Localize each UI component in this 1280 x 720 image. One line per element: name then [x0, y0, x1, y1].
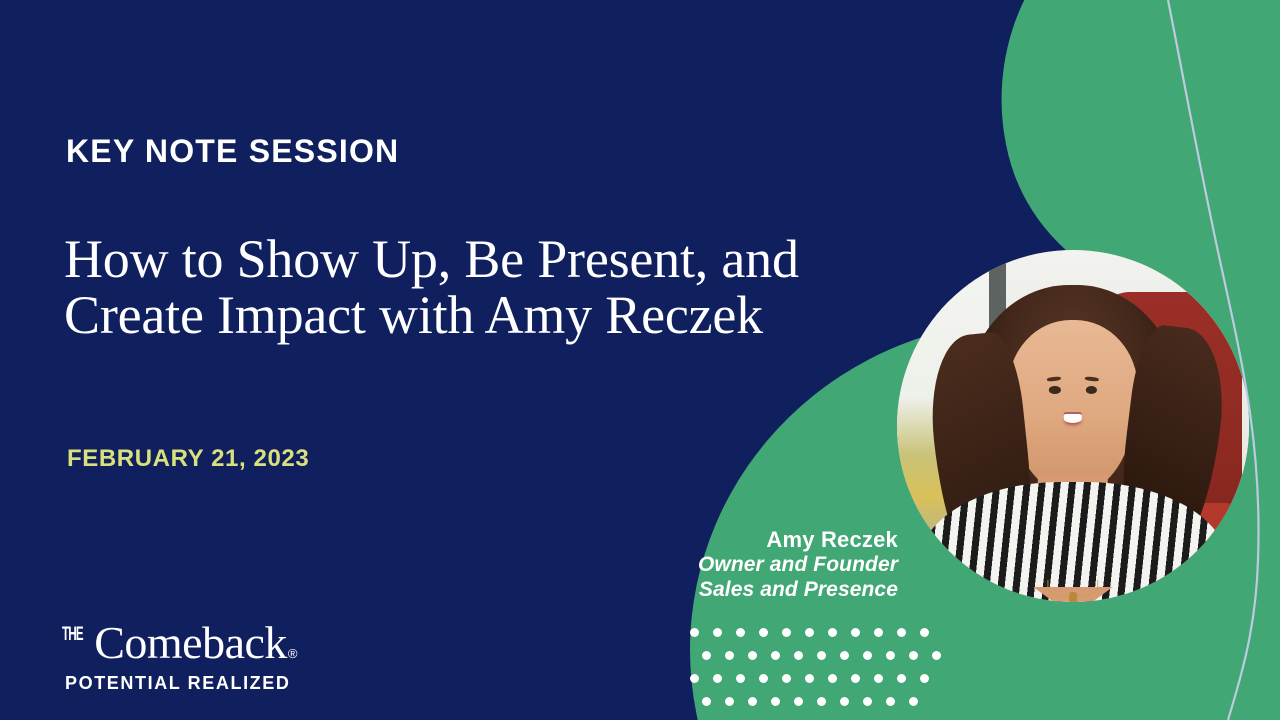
speaker-credit: Amy Reczek Owner and Founder Sales and P…	[698, 527, 898, 602]
registered-trademark-icon: ®	[288, 647, 298, 660]
presentation-slide: KEY NOTE SESSION How to Show Up, Be Pres…	[0, 0, 1280, 720]
avatar-pendant	[1069, 592, 1077, 602]
speaker-name: Amy Reczek	[698, 527, 898, 552]
avatar-eye-left	[1049, 386, 1061, 394]
session-date: FEBRUARY 21, 2023	[67, 445, 309, 473]
slide-content: KEY NOTE SESSION How to Show Up, Be Pres…	[64, 0, 924, 720]
speaker-role: Owner and Founder	[698, 552, 898, 577]
avatar-smile	[1064, 414, 1082, 423]
brand-logo: THE Comeback ® POTENTIAL REALIZED	[62, 620, 298, 694]
logo-the-prefix: THE	[62, 625, 83, 644]
avatar-eyebrow-left	[1047, 377, 1062, 382]
logo-wordmark: THE Comeback ®	[62, 620, 298, 666]
speaker-avatar	[897, 250, 1249, 602]
logo-tagline: POTENTIAL REALIZED	[65, 673, 298, 694]
page-title: How to Show Up, Be Present, and Create I…	[64, 231, 894, 343]
avatar-eyebrow-right	[1085, 377, 1100, 382]
speaker-company: Sales and Presence	[698, 577, 898, 602]
dot	[932, 651, 941, 660]
logo-comeback-word: Comeback	[94, 620, 287, 666]
session-eyebrow: KEY NOTE SESSION	[66, 133, 399, 170]
avatar-eye-right	[1085, 386, 1097, 394]
